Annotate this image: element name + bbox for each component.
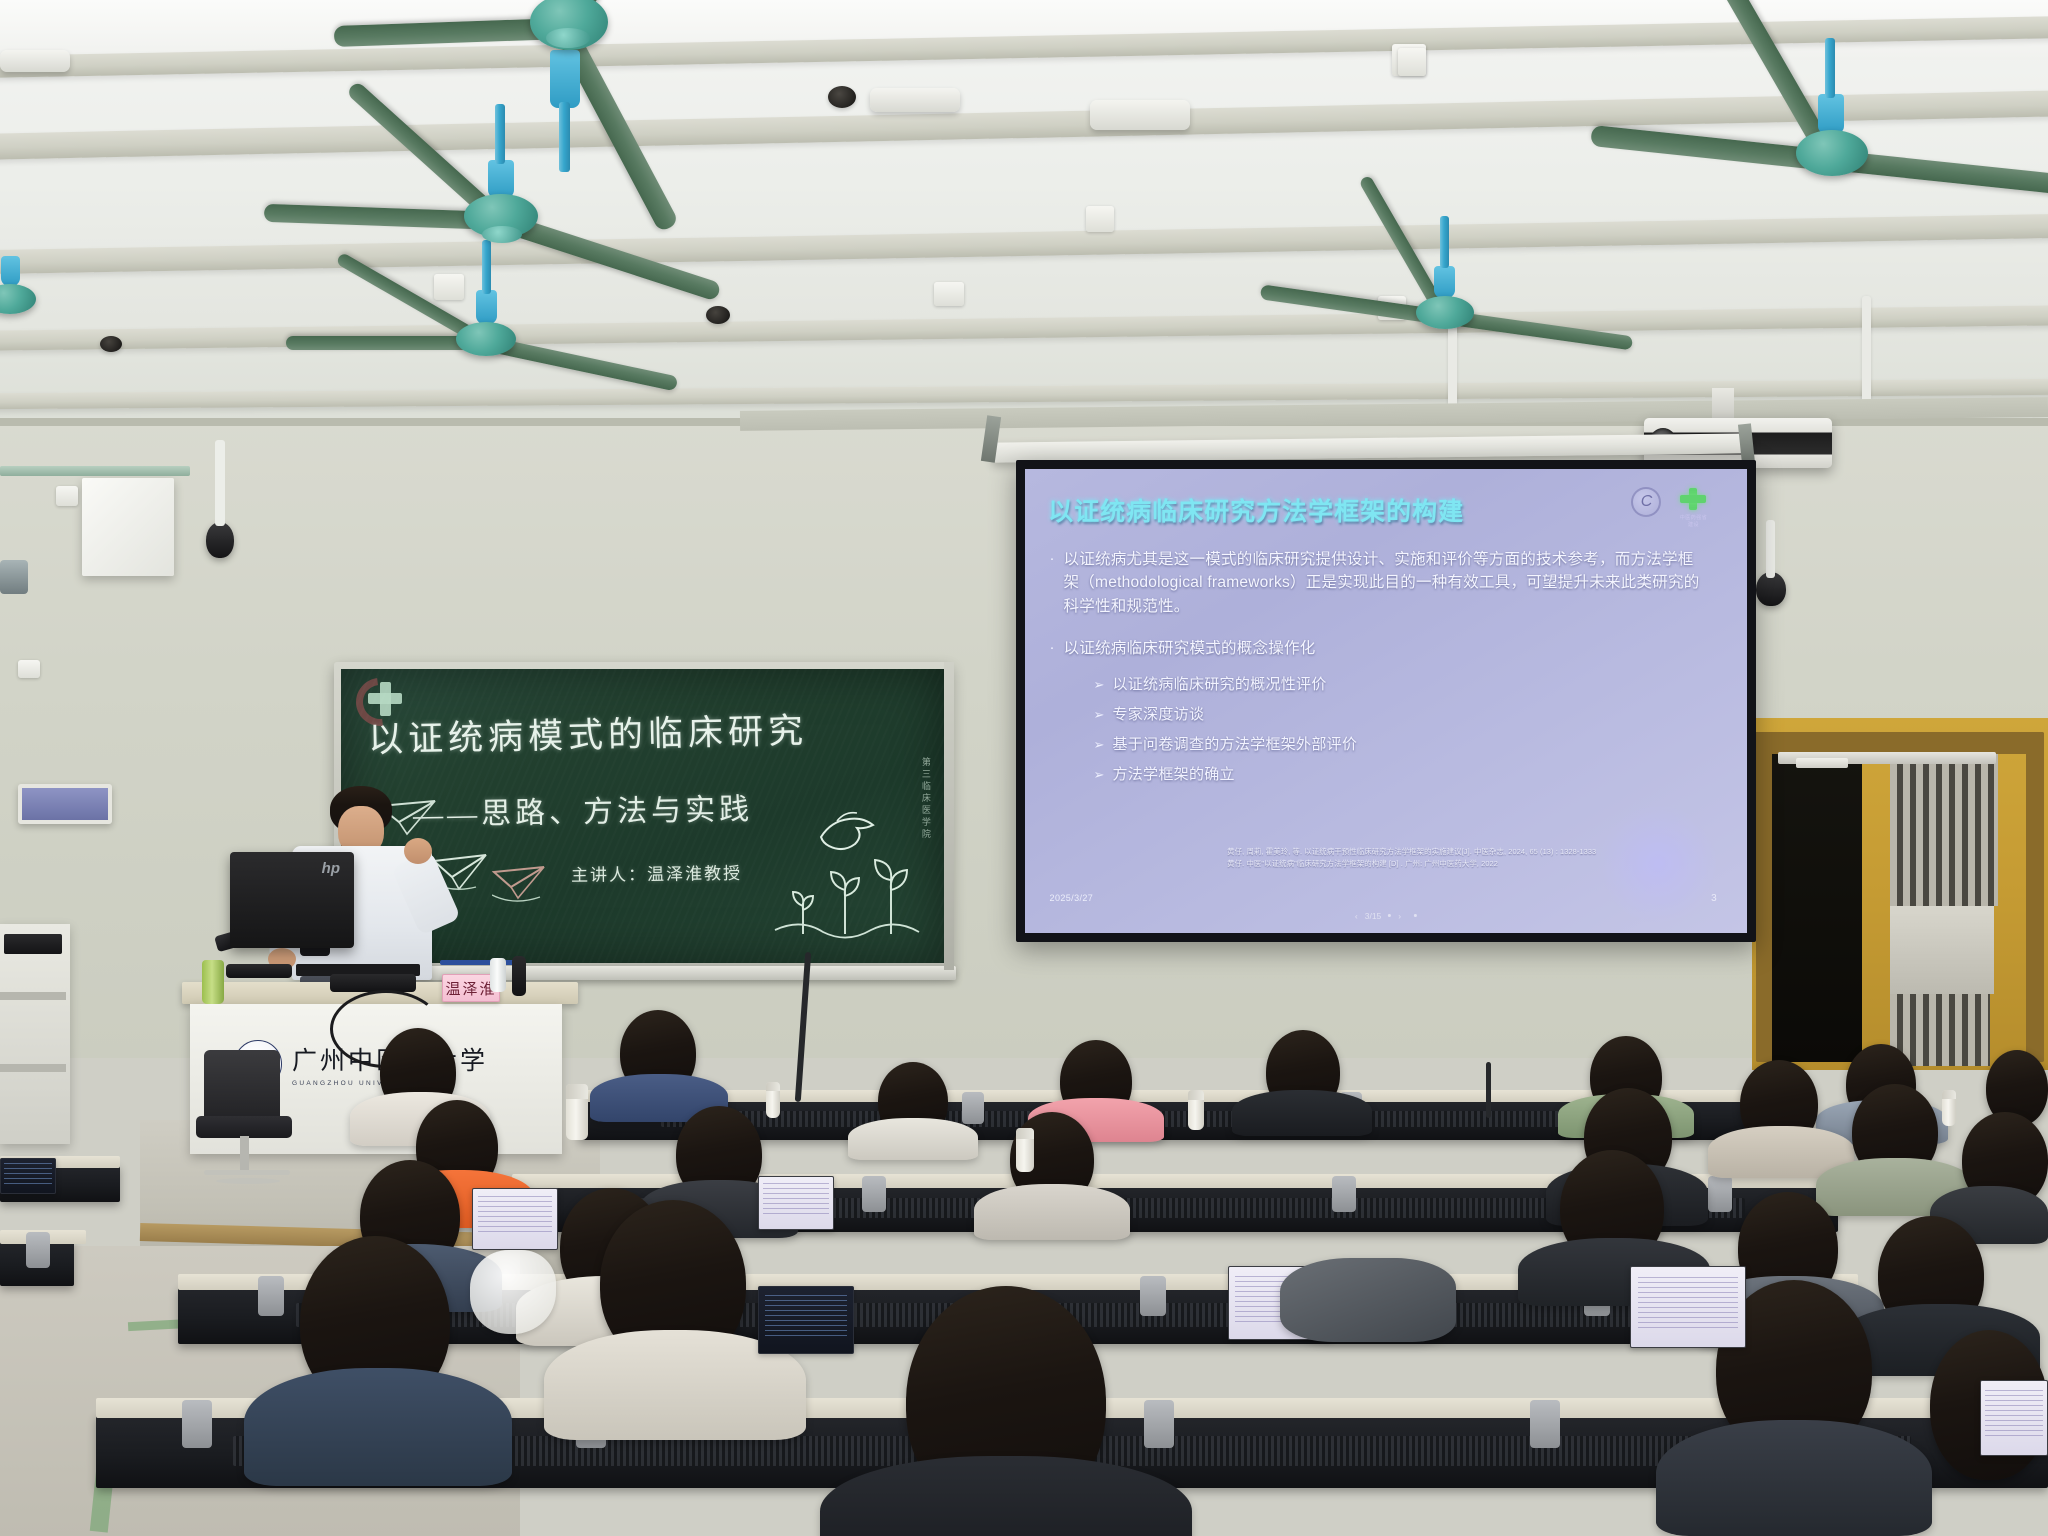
green-thermos xyxy=(202,960,224,1004)
door-frame xyxy=(1756,732,1772,1062)
slide-body: · 以证统病尤其是这一模式的临床研究提供设计、实施和评价等方面的技术参考，而方法… xyxy=(1050,548,1704,793)
sub-bullet: ➢ 基于问卷调查的方法学框架外部评价 xyxy=(1094,733,1704,754)
fan-hub-cap xyxy=(482,226,522,243)
sub-bullet-text: 专家深度访谈 xyxy=(1112,703,1204,724)
fan-hub-cap xyxy=(546,28,590,48)
desk-divider-cap xyxy=(182,1400,212,1448)
green-cross-caption: 中医药强省建设 xyxy=(1677,514,1709,528)
wall-speaker xyxy=(0,560,28,594)
bullet-marker: · xyxy=(1050,637,1055,661)
slide-bullet: · 以证统病尤其是这一模式的临床研究提供设计、实施和评价等方面的技术参考，而方法… xyxy=(1050,548,1704,619)
desk-microphone[interactable] xyxy=(226,964,292,978)
desk-divider-cap xyxy=(1530,1400,1560,1448)
smoke-detector xyxy=(1090,100,1190,130)
fan-downrod xyxy=(559,102,570,172)
chair-seat xyxy=(196,1116,292,1138)
desk-divider-cap xyxy=(862,1176,886,1212)
projection-screen: 以证统病临床研究方法学框架的构建 C 中医药强省建设 · 以证统病尤其是这一模式… xyxy=(1016,460,1756,942)
slide-bullet: · 以证统病临床研究模式的概念操作化 xyxy=(1050,637,1704,661)
lecture-hall-scene: 以证统病临床研究方法学框架的构建 C 中医药强省建设 · 以证统病尤其是这一模式… xyxy=(0,0,2048,1536)
blackboard-title-line2: ——思路、方法与实践 xyxy=(413,784,754,834)
slide-page-number: 3 xyxy=(1711,893,1717,904)
sub-bullet-text: 基于问卷调查的方法学框架外部评价 xyxy=(1112,733,1357,754)
rack-device xyxy=(4,934,62,954)
emergency-exit-sign xyxy=(18,784,112,824)
door-security-gate[interactable] xyxy=(1890,754,1998,906)
hp-monitor: hp xyxy=(230,852,354,948)
hp-logo: hp xyxy=(322,860,340,877)
audience-shoulders xyxy=(1656,1420,1932,1536)
camera-mount xyxy=(215,440,225,526)
fan-downrod xyxy=(1825,38,1835,98)
hanging-cable xyxy=(1486,1062,1491,1118)
office-chair[interactable] xyxy=(196,1050,316,1190)
plastic-bag xyxy=(470,1250,556,1334)
water-bottle xyxy=(766,1082,780,1118)
bullet-text: 以证统病尤其是这一模式的临床研究提供设计、实施和评价等方面的技术参考，而方法学框… xyxy=(1064,548,1704,619)
laptop-screen xyxy=(0,1158,56,1194)
slide-date: 2025/3/27 xyxy=(1050,893,1094,903)
fan-downrod-cap xyxy=(488,160,514,198)
sub-bullet-marker: ➢ xyxy=(1094,767,1105,783)
sub-bullet: ➢ 方法学框架的确立 xyxy=(1094,763,1704,784)
projector-mount xyxy=(1712,388,1734,422)
fan-downrod-cap xyxy=(1818,94,1844,134)
door-closer-arm xyxy=(1796,758,1848,768)
light-switch[interactable] xyxy=(18,660,40,678)
desk-divider-cap xyxy=(1708,1176,1732,1212)
laptop[interactable] xyxy=(1980,1380,2048,1456)
audience-shoulders xyxy=(244,1368,512,1486)
nameplate-text: 温泽淮 xyxy=(445,978,496,999)
fan-downrod xyxy=(482,240,491,294)
audience-shoulders xyxy=(848,1118,978,1160)
slide-navigation[interactable]: ‹ 3/15 › xyxy=(1355,911,1417,921)
electrical-cabinet xyxy=(82,478,174,576)
laptop-screen xyxy=(758,1176,834,1230)
laptop-screen xyxy=(758,1286,854,1354)
chair-base xyxy=(216,1178,280,1184)
sub-bullet-text: 方法学框架的确立 xyxy=(1112,763,1234,784)
desk-microphone[interactable] xyxy=(330,974,416,992)
slide-logos: C 中医药强省建设 xyxy=(1631,486,1709,518)
water-bottle xyxy=(1942,1090,1956,1126)
audience-shoulders xyxy=(1232,1090,1372,1136)
equipment-rack xyxy=(0,924,70,1144)
jacket-on-desk xyxy=(1280,1258,1456,1342)
nav-dot-icon xyxy=(1388,914,1391,917)
sub-bullet-marker: ➢ xyxy=(1094,677,1105,693)
rack-shelf xyxy=(0,992,66,1000)
desk-divider-cap xyxy=(1140,1276,1166,1316)
laptop[interactable] xyxy=(0,1158,56,1194)
rack-shelf xyxy=(0,1064,66,1072)
door-kick-plate xyxy=(1890,906,1994,994)
door-frame xyxy=(2026,732,2044,1062)
bullet-text: 以证统病临床研究模式的概念操作化 xyxy=(1064,637,1316,661)
sub-bullet: ➢ 专家深度访谈 xyxy=(1094,703,1704,724)
sub-bullet-marker: ➢ xyxy=(1094,737,1105,753)
bullet-marker: · xyxy=(1050,548,1055,619)
fan-downrod-cap xyxy=(1,256,20,286)
sprinkler-head xyxy=(828,86,856,108)
fan-hub xyxy=(1416,296,1474,329)
presenter-hand xyxy=(404,838,432,864)
wall-outlet[interactable] xyxy=(934,282,964,306)
audience-shoulders xyxy=(974,1184,1130,1240)
laptop-screen xyxy=(1980,1380,2048,1456)
chair-base xyxy=(204,1170,290,1175)
reference-line: 黄仔, 周莉, 霍美玲, 等. 以证统病干预性临床研究方法学框架的实施建议[J]… xyxy=(1227,846,1711,858)
prev-slide-button[interactable]: ‹ xyxy=(1355,911,1358,921)
plants-drawing xyxy=(773,854,921,945)
blue-marker[interactable] xyxy=(440,960,520,965)
university-seal-logo: C xyxy=(1631,487,1661,517)
slide-sub-bullets: ➢ 以证统病临床研究的概况性评价 ➢ 专家深度访谈 ➢ 基于问卷调查的方法学框架… xyxy=(1094,673,1704,784)
blackboard-presenter-line: 主讲人：温泽淮教授 xyxy=(570,859,741,886)
green-cross-logo: 中医药强省建设 xyxy=(1677,486,1709,518)
door-frame xyxy=(1754,732,2044,754)
blackboard-side-note: 第三临床医学院 xyxy=(920,757,933,841)
security-camera xyxy=(206,522,234,558)
sub-bullet-text: 以证统病临床研究的概况性评价 xyxy=(1112,673,1326,694)
slide-title: 以证统病临床研究方法学框架的构建 xyxy=(1048,492,1464,528)
desk-vent xyxy=(661,1111,1679,1128)
blackboard-title-line1: 以证统病模式的临床研究 xyxy=(368,703,809,763)
wall-outlet[interactable] xyxy=(1086,206,1114,232)
laptop[interactable] xyxy=(758,1176,834,1230)
nav-dot-icon xyxy=(1414,914,1417,917)
laptop[interactable] xyxy=(472,1188,558,1250)
medical-cross-logo xyxy=(356,678,418,730)
sub-bullet: ➢ 以证统病临床研究的概况性评价 xyxy=(1094,673,1704,694)
thermos-flask xyxy=(1016,1128,1034,1172)
fan-downrod-cap xyxy=(550,50,580,108)
desk-divider-cap xyxy=(258,1276,284,1316)
laptop-screen xyxy=(1630,1266,1746,1348)
wall-outlet[interactable] xyxy=(434,274,464,300)
thermos-flask xyxy=(566,1084,588,1140)
laptop-screen xyxy=(472,1188,558,1250)
wall-outlet[interactable] xyxy=(1398,48,1426,76)
chair-post xyxy=(240,1136,249,1172)
fan-hub xyxy=(456,322,516,356)
chair-back xyxy=(204,1050,280,1122)
sprinkler-head xyxy=(706,306,730,324)
fan-hub xyxy=(1796,130,1868,176)
dove-drawing xyxy=(815,807,879,858)
desk-divider-cap xyxy=(26,1232,50,1268)
desk-divider-cap xyxy=(1332,1176,1356,1212)
fan-downrod-cap xyxy=(1434,266,1455,298)
laptop[interactable] xyxy=(1630,1266,1746,1348)
door-opening[interactable] xyxy=(1772,754,1862,1062)
slide-counter: 3/15 xyxy=(1365,911,1382,921)
next-slide-button[interactable]: › xyxy=(1398,911,1401,921)
smoke-detector xyxy=(0,50,70,72)
handheld-microphone[interactable] xyxy=(512,956,526,996)
sprinkler-head xyxy=(100,336,122,352)
desk-divider-cap xyxy=(1144,1400,1174,1448)
wall-shelf xyxy=(0,466,190,476)
desk-divider-cap xyxy=(962,1092,984,1124)
paper-plane-drawing xyxy=(492,863,552,903)
reference-line: 黄仔. 中医"以证统病"临床研究方法学框架的构建 [D] . 广州: 广州中医药… xyxy=(1227,858,1711,870)
fan-downrod xyxy=(1440,216,1449,268)
slide-references: 黄仔, 周莉, 霍美玲, 等. 以证统病干预性临床研究方法学框架的实施建议[J]… xyxy=(1227,846,1711,870)
presentation-slide: 以证统病临床研究方法学框架的构建 C 中医药强省建设 · 以证统病尤其是这一模式… xyxy=(1025,469,1747,933)
thermos-flask xyxy=(1188,1090,1204,1130)
laptop[interactable] xyxy=(758,1286,854,1354)
wall-outlet[interactable] xyxy=(56,486,78,506)
blackboard-panel-edge xyxy=(944,662,954,970)
fan-downrod xyxy=(495,104,505,164)
sub-bullet-marker: ➢ xyxy=(1094,707,1105,723)
smoke-detector xyxy=(870,88,960,112)
fan-downrod-cap xyxy=(476,290,497,324)
water-bottle xyxy=(490,958,506,992)
camera-mount xyxy=(1766,520,1775,578)
